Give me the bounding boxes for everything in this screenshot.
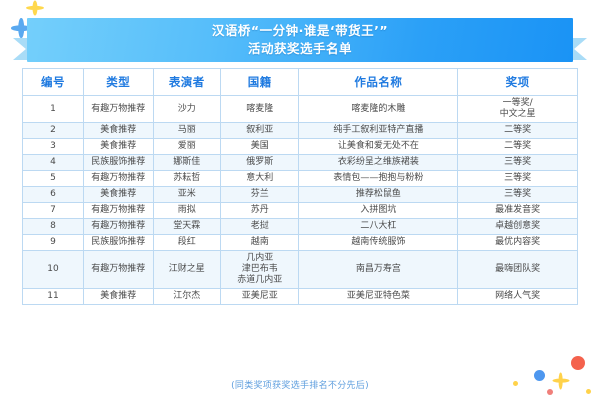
cell-award: 卓越创意奖: [458, 219, 578, 235]
table-header: 编号 类型 表演者 国籍 作品名称 奖项: [23, 69, 578, 96]
cell-no: 8: [23, 219, 84, 235]
table-row: 9民族服饰推荐段红越南越南传统服饰最优内容奖: [23, 235, 578, 251]
cell-performer: 亚米: [153, 187, 220, 203]
cell-no: 2: [23, 123, 84, 139]
cell-type: 有趣万物推荐: [83, 171, 153, 187]
column-header-type: 类型: [83, 69, 153, 96]
column-header-award: 奖项: [458, 69, 578, 96]
cell-no: 11: [23, 289, 84, 305]
table-row: 4民族服饰推荐娜斯佳俄罗斯衣彩纷呈之维族裙装三等奖: [23, 155, 578, 171]
cell-type: 民族服饰推荐: [83, 235, 153, 251]
dot-icon-red: [571, 356, 585, 370]
cell-type: 有趣万物推荐: [83, 251, 153, 289]
cell-type: 有趣万物推荐: [83, 96, 153, 123]
cell-work: 表情包——抱抱与粉粉: [299, 171, 458, 187]
ribbon-body: 汉语桥“一分钟·谁是‘带货王’” 活动获奖选手名单: [27, 18, 573, 62]
cell-no: 1: [23, 96, 84, 123]
table-row: 10有趣万物推荐江财之星几内亚 津巴布韦 赤道几内亚南昌万寿宫最嗨团队奖: [23, 251, 578, 289]
award-table-container: 编号 类型 表演者 国籍 作品名称 奖项 1有趣万物推荐沙力喀麦隆喀麦隆的木雕一…: [22, 68, 578, 305]
cell-award: 三等奖: [458, 171, 578, 187]
cell-award: 三等奖: [458, 187, 578, 203]
cell-nationality: 意大利: [221, 171, 299, 187]
cell-performer: 爱丽: [153, 139, 220, 155]
cell-work: 衣彩纷呈之维族裙装: [299, 155, 458, 171]
cell-type: 有趣万物推荐: [83, 203, 153, 219]
cell-nationality: 老挝: [221, 219, 299, 235]
cell-nationality: 叙利亚: [221, 123, 299, 139]
table-header-row: 编号 类型 表演者 国籍 作品名称 奖项: [23, 69, 578, 96]
table-row: 1有趣万物推荐沙力喀麦隆喀麦隆的木雕一等奖/ 中文之星: [23, 96, 578, 123]
table-row: 6美食推荐亚米芬兰推荐松鼠鱼三等奖: [23, 187, 578, 203]
cell-no: 6: [23, 187, 84, 203]
table-body: 1有趣万物推荐沙力喀麦隆喀麦隆的木雕一等奖/ 中文之星2美食推荐马丽叙利亚纯手工…: [23, 96, 578, 305]
cell-no: 5: [23, 171, 84, 187]
cell-performer: 江尔杰: [153, 289, 220, 305]
table-row: 8有趣万物推荐堂天霖老挝二八大杠卓越创意奖: [23, 219, 578, 235]
cell-work: 南昌万寿宫: [299, 251, 458, 289]
cell-award: 二等奖: [458, 139, 578, 155]
table-row: 11美食推荐江尔杰亚美尼亚亚美尼亚特色菜网络人气奖: [23, 289, 578, 305]
cell-award: 二等奖: [458, 123, 578, 139]
cell-performer: 雨拟: [153, 203, 220, 219]
table-row: 2美食推荐马丽叙利亚纯手工叙利亚特产直播二等奖: [23, 123, 578, 139]
footnote: (同类奖项获奖选手排名不分先后): [0, 378, 600, 391]
cell-nationality: 喀麦隆: [221, 96, 299, 123]
cell-performer: 娜斯佳: [153, 155, 220, 171]
column-header-work: 作品名称: [299, 69, 458, 96]
cell-type: 美食推荐: [83, 187, 153, 203]
column-header-no: 编号: [23, 69, 84, 96]
cell-performer: 苏耘哲: [153, 171, 220, 187]
table-row: 3美食推荐爱丽美国让美食和爱无处不在二等奖: [23, 139, 578, 155]
cell-nationality: 美国: [221, 139, 299, 155]
table-row: 7有趣万物推荐雨拟苏丹入拼图坑最准发音奖: [23, 203, 578, 219]
cell-type: 美食推荐: [83, 139, 153, 155]
cell-no: 7: [23, 203, 84, 219]
cell-work: 入拼图坑: [299, 203, 458, 219]
cell-performer: 马丽: [153, 123, 220, 139]
cell-type: 民族服饰推荐: [83, 155, 153, 171]
cell-performer: 段红: [153, 235, 220, 251]
cell-work: 让美食和爱无处不在: [299, 139, 458, 155]
cell-nationality: 苏丹: [221, 203, 299, 219]
cell-no: 10: [23, 251, 84, 289]
column-header-performer: 表演者: [153, 69, 220, 96]
cell-award: 最嗨团队奖: [458, 251, 578, 289]
cell-nationality: 越南: [221, 235, 299, 251]
cell-type: 美食推荐: [83, 123, 153, 139]
cell-type: 美食推荐: [83, 289, 153, 305]
banner-title-line-2: 活动获奖选手名单: [248, 40, 352, 58]
award-table: 编号 类型 表演者 国籍 作品名称 奖项 1有趣万物推荐沙力喀麦隆喀麦隆的木雕一…: [22, 68, 578, 305]
cell-no: 9: [23, 235, 84, 251]
cell-work: 越南传统服饰: [299, 235, 458, 251]
cell-performer: 江财之星: [153, 251, 220, 289]
banner-title-line-1: 汉语桥“一分钟·谁是‘带货王’”: [212, 22, 388, 40]
cell-work: 喀麦隆的木雕: [299, 96, 458, 123]
cell-work: 二八大杠: [299, 219, 458, 235]
cell-work: 亚美尼亚特色菜: [299, 289, 458, 305]
cell-type: 有趣万物推荐: [83, 219, 153, 235]
cell-award: 一等奖/ 中文之星: [458, 96, 578, 123]
column-header-nationality: 国籍: [221, 69, 299, 96]
cell-work: 纯手工叙利亚特产直播: [299, 123, 458, 139]
title-banner: 汉语桥“一分钟·谁是‘带货王’” 活动获奖选手名单: [0, 14, 600, 62]
cell-work: 推荐松鼠鱼: [299, 187, 458, 203]
cell-award: 最准发音奖: [458, 203, 578, 219]
cell-nationality: 亚美尼亚: [221, 289, 299, 305]
table-row: 5有趣万物推荐苏耘哲意大利表情包——抱抱与粉粉三等奖: [23, 171, 578, 187]
cell-nationality: 俄罗斯: [221, 155, 299, 171]
cell-performer: 沙力: [153, 96, 220, 123]
sparkle-icon-top-left-yellow: [26, 0, 44, 15]
cell-nationality: 几内亚 津巴布韦 赤道几内亚: [221, 251, 299, 289]
cell-award: 网络人气奖: [458, 289, 578, 305]
cell-award: 最优内容奖: [458, 235, 578, 251]
cell-no: 3: [23, 139, 84, 155]
cell-nationality: 芬兰: [221, 187, 299, 203]
cell-no: 4: [23, 155, 84, 171]
cell-award: 三等奖: [458, 155, 578, 171]
cell-performer: 堂天霖: [153, 219, 220, 235]
